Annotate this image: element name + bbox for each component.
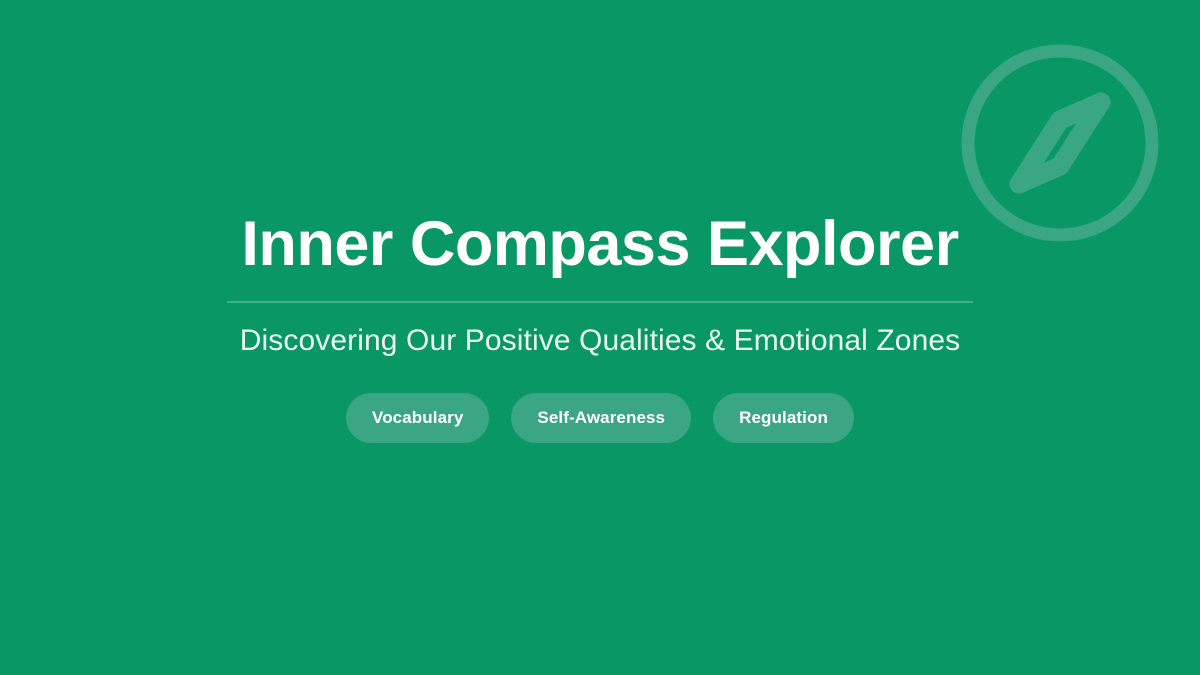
tag-pill-regulation[interactable]: Regulation [713, 393, 854, 443]
tag-row: Vocabulary Self-Awareness Regulation [346, 393, 854, 443]
title-divider [227, 301, 973, 303]
tag-pill-self-awareness[interactable]: Self-Awareness [511, 393, 691, 443]
page-subtitle: Discovering Our Positive Qualities & Emo… [240, 324, 961, 358]
title-block: Inner Compass Explorer Discovering Our P… [227, 212, 973, 443]
page-title: Inner Compass Explorer [241, 212, 958, 276]
title-slide: Inner Compass Explorer Discovering Our P… [0, 0, 1200, 675]
tag-pill-vocabulary[interactable]: Vocabulary [346, 393, 489, 443]
